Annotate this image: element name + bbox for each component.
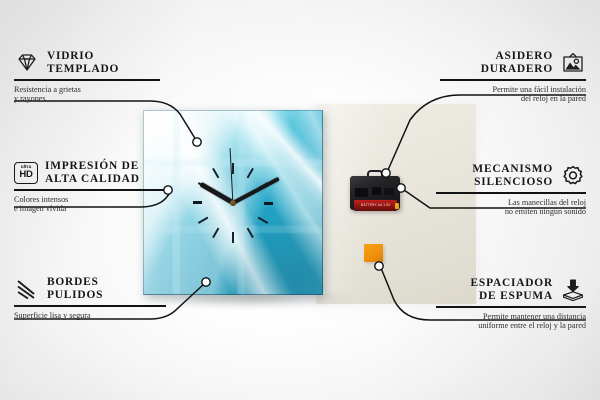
feature-header: ESPACIADORDE ESPUMA: [436, 277, 586, 302]
feature-vidrio-templado: VIDRIOTEMPLADO Resistencia a grietas y r…: [14, 50, 160, 104]
feature-description: Colores intensos e imagen vívida: [14, 195, 164, 214]
feature-divider: [436, 192, 586, 194]
feature-title: VIDRIOTEMPLADO: [47, 50, 119, 75]
feature-title: BORDESPULIDOS: [47, 276, 103, 301]
feature-impresion-alta-calidad: ultra HD IMPRESIÓN DEALTA CALIDAD Colore…: [14, 160, 164, 214]
foam-spacer: [364, 244, 383, 262]
feature-title: IMPRESIÓN DEALTA CALIDAD: [45, 160, 140, 185]
clock-glass-edge: [143, 110, 323, 295]
infographic-canvas: BATTERY AA 1.5V: [0, 0, 600, 400]
wall-hanger-frame-icon: [560, 51, 586, 75]
mechanism-housing: BATTERY AA 1.5V: [350, 176, 400, 210]
wall-clock-product: [143, 110, 323, 295]
feature-divider: [14, 189, 164, 191]
feature-divider: [436, 306, 586, 308]
mechanism-detail-right: [384, 188, 394, 195]
feature-title: ESPACIADORDE ESPUMA: [471, 277, 553, 302]
gear-icon: [560, 164, 586, 188]
feature-title: MECANISMOSILENCIOSO: [472, 163, 553, 188]
feature-bordes-pulidos: BORDESPULIDOS Superficie lisa y segura: [14, 276, 166, 320]
ultra-hd-icon-main-text: HD: [19, 170, 32, 180]
feature-description: Resistencia a grietas y rayones: [14, 85, 160, 104]
feature-header: BORDESPULIDOS: [14, 276, 166, 301]
diamond-icon: [14, 51, 40, 75]
ultra-hd-icon: ultra HD: [14, 162, 38, 184]
feature-divider: [14, 305, 166, 307]
feature-header: MECANISMOSILENCIOSO: [436, 163, 586, 188]
feature-header: VIDRIOTEMPLADO: [14, 50, 160, 75]
feature-divider: [14, 79, 160, 81]
feature-divider: [440, 79, 586, 81]
mechanism-detail-left: [355, 188, 368, 197]
feature-header: ASIDERODURADERO: [440, 50, 586, 75]
feature-description: Superficie lisa y segura: [14, 311, 166, 321]
feature-mecanismo-silencioso: MECANISMOSILENCIOSO Las manecillas del r…: [436, 163, 586, 217]
battery-label: BATTERY AA 1.5V: [361, 203, 391, 207]
clock-mechanism: BATTERY AA 1.5V: [350, 170, 400, 210]
polished-edges-icon: [14, 277, 40, 301]
mechanism-detail-center: [372, 187, 381, 195]
feature-title: ASIDERODURADERO: [481, 50, 553, 75]
feature-espaciador-espuma: ESPACIADORDE ESPUMA Permite mantener una…: [436, 277, 586, 331]
feature-description: Permite una fácil instalación del reloj …: [440, 85, 586, 104]
feature-description: Las manecillas del reloj no emiten ningú…: [436, 198, 586, 217]
feature-description: Permite mantener una distancia uniforme …: [436, 312, 586, 331]
press-down-foam-icon: [560, 278, 586, 302]
feature-asidero-duradero: ASIDERODURADERO Permite una fácil instal…: [440, 50, 586, 104]
feature-header: ultra HD IMPRESIÓN DEALTA CALIDAD: [14, 160, 164, 185]
battery: BATTERY AA 1.5V: [354, 200, 397, 211]
